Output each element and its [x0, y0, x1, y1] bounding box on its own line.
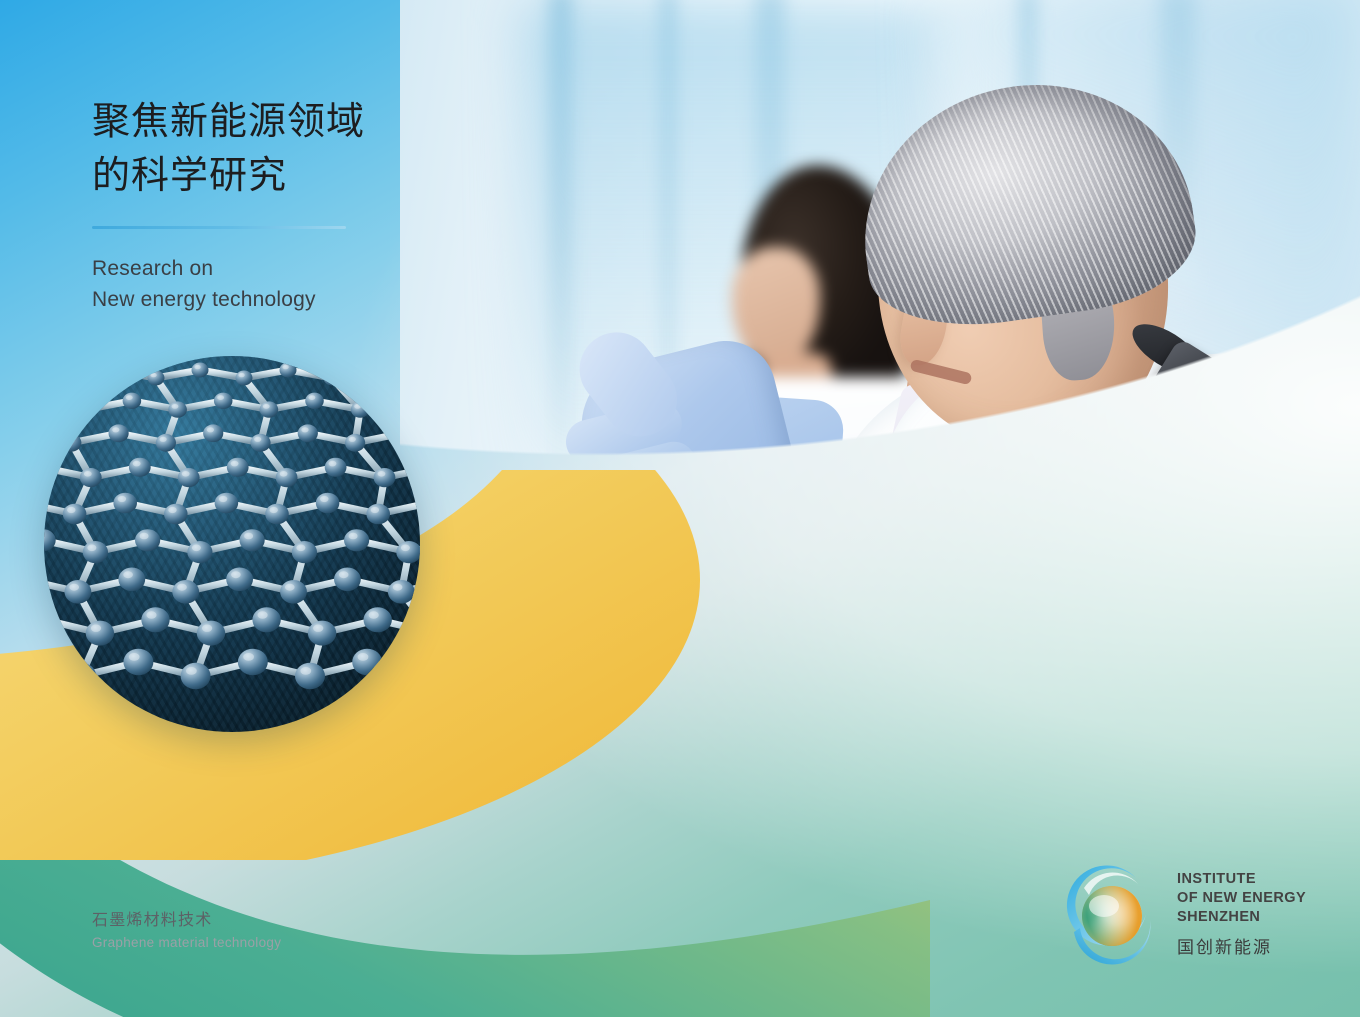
graphene-lattice-circle: [44, 356, 420, 732]
poster-canvas: 聚焦新能源领域 的科学研究 Research on New energy tec…: [0, 0, 1360, 1017]
logo-text-block: INSTITUTE OF NEW ENERGY SHENZHEN 国创新能源: [1177, 870, 1306, 958]
title-divider-rule: [92, 226, 346, 229]
microscope-focus-knob: [968, 702, 1026, 760]
brand-logo: INSTITUTE OF NEW ENERGY SHENZHEN 国创新能源: [1058, 862, 1306, 966]
title-block: 聚焦新能源领域 的科学研究 Research on New energy tec…: [92, 96, 522, 316]
logo-name-cn: 国创新能源: [1177, 933, 1306, 958]
caption-cn: 石墨烯材料技术: [92, 906, 281, 930]
logo-name-en: INSTITUTE OF NEW ENERGY SHENZHEN: [1177, 870, 1306, 927]
microscope-objective-lens: [1134, 535, 1168, 602]
graphene-lattice-svg: [44, 356, 420, 732]
caption-block: 石墨烯材料技术 Graphene material technology: [92, 906, 281, 950]
sphere-swirl-logo-icon: [1058, 862, 1162, 966]
microscope-objective-lens: [1070, 535, 1104, 602]
microscope-screw: [1120, 494, 1132, 506]
microscope: [960, 430, 1270, 790]
laboratory-photo: [400, 0, 1360, 900]
page-title-en: Research on New energy technology: [92, 253, 522, 316]
caption-en: Graphene material technology: [92, 935, 281, 950]
objective-color-band: [1106, 564, 1132, 568]
page-title-cn: 聚焦新能源领域 的科学研究: [92, 96, 522, 204]
